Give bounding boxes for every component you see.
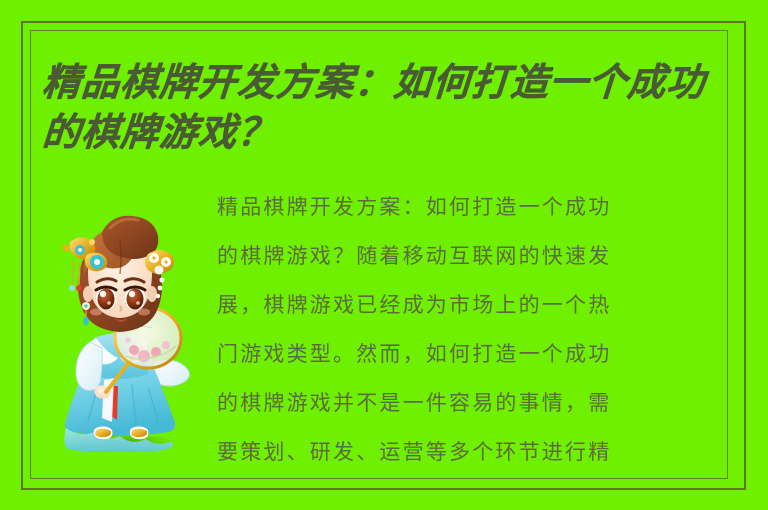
ear-right bbox=[147, 286, 157, 302]
blush-right bbox=[138, 309, 150, 316]
body-line: 要策划、研发、运营等多个环节进行精 bbox=[217, 428, 729, 477]
body-line: 门游戏类型。然而，如何打造一个成功 bbox=[217, 330, 729, 379]
body-line: 的棋牌游戏并不是一件容易的事情，需 bbox=[217, 379, 729, 428]
body-line: 展，棋牌游戏已经成为市场上的一个热 bbox=[217, 281, 729, 330]
eye-right bbox=[125, 286, 145, 310]
left-sleeve bbox=[76, 342, 102, 390]
title-line-1: 精品棋牌开发方案：如何打造一个成功 bbox=[41, 58, 734, 108]
poster-title: 精品棋牌开发方案：如何打造一个成功 的棋牌游戏？ bbox=[44, 58, 734, 158]
title-line-2: 的棋牌游戏？ bbox=[41, 108, 734, 158]
article-body: 精品棋牌开发方案：如何打造一个成功 的棋牌游戏？随着移动互联网的快速发 展，棋牌… bbox=[217, 183, 729, 483]
poster-canvas: 精品棋牌开发方案：如何打造一个成功 的棋牌游戏？ 精品棋牌开发方案：如何打造一个… bbox=[0, 0, 768, 510]
chibi-hanfu-girl-illustration bbox=[36, 190, 196, 452]
blush-left bbox=[90, 309, 102, 316]
shoe-left bbox=[94, 426, 113, 439]
eye-left bbox=[96, 286, 116, 310]
shoe-right bbox=[130, 426, 149, 439]
ear-left bbox=[83, 286, 93, 302]
body-line: 的棋牌游戏？随着移动互联网的快速发 bbox=[217, 232, 729, 281]
body-line: 精品棋牌开发方案：如何打造一个成功 bbox=[217, 183, 729, 232]
